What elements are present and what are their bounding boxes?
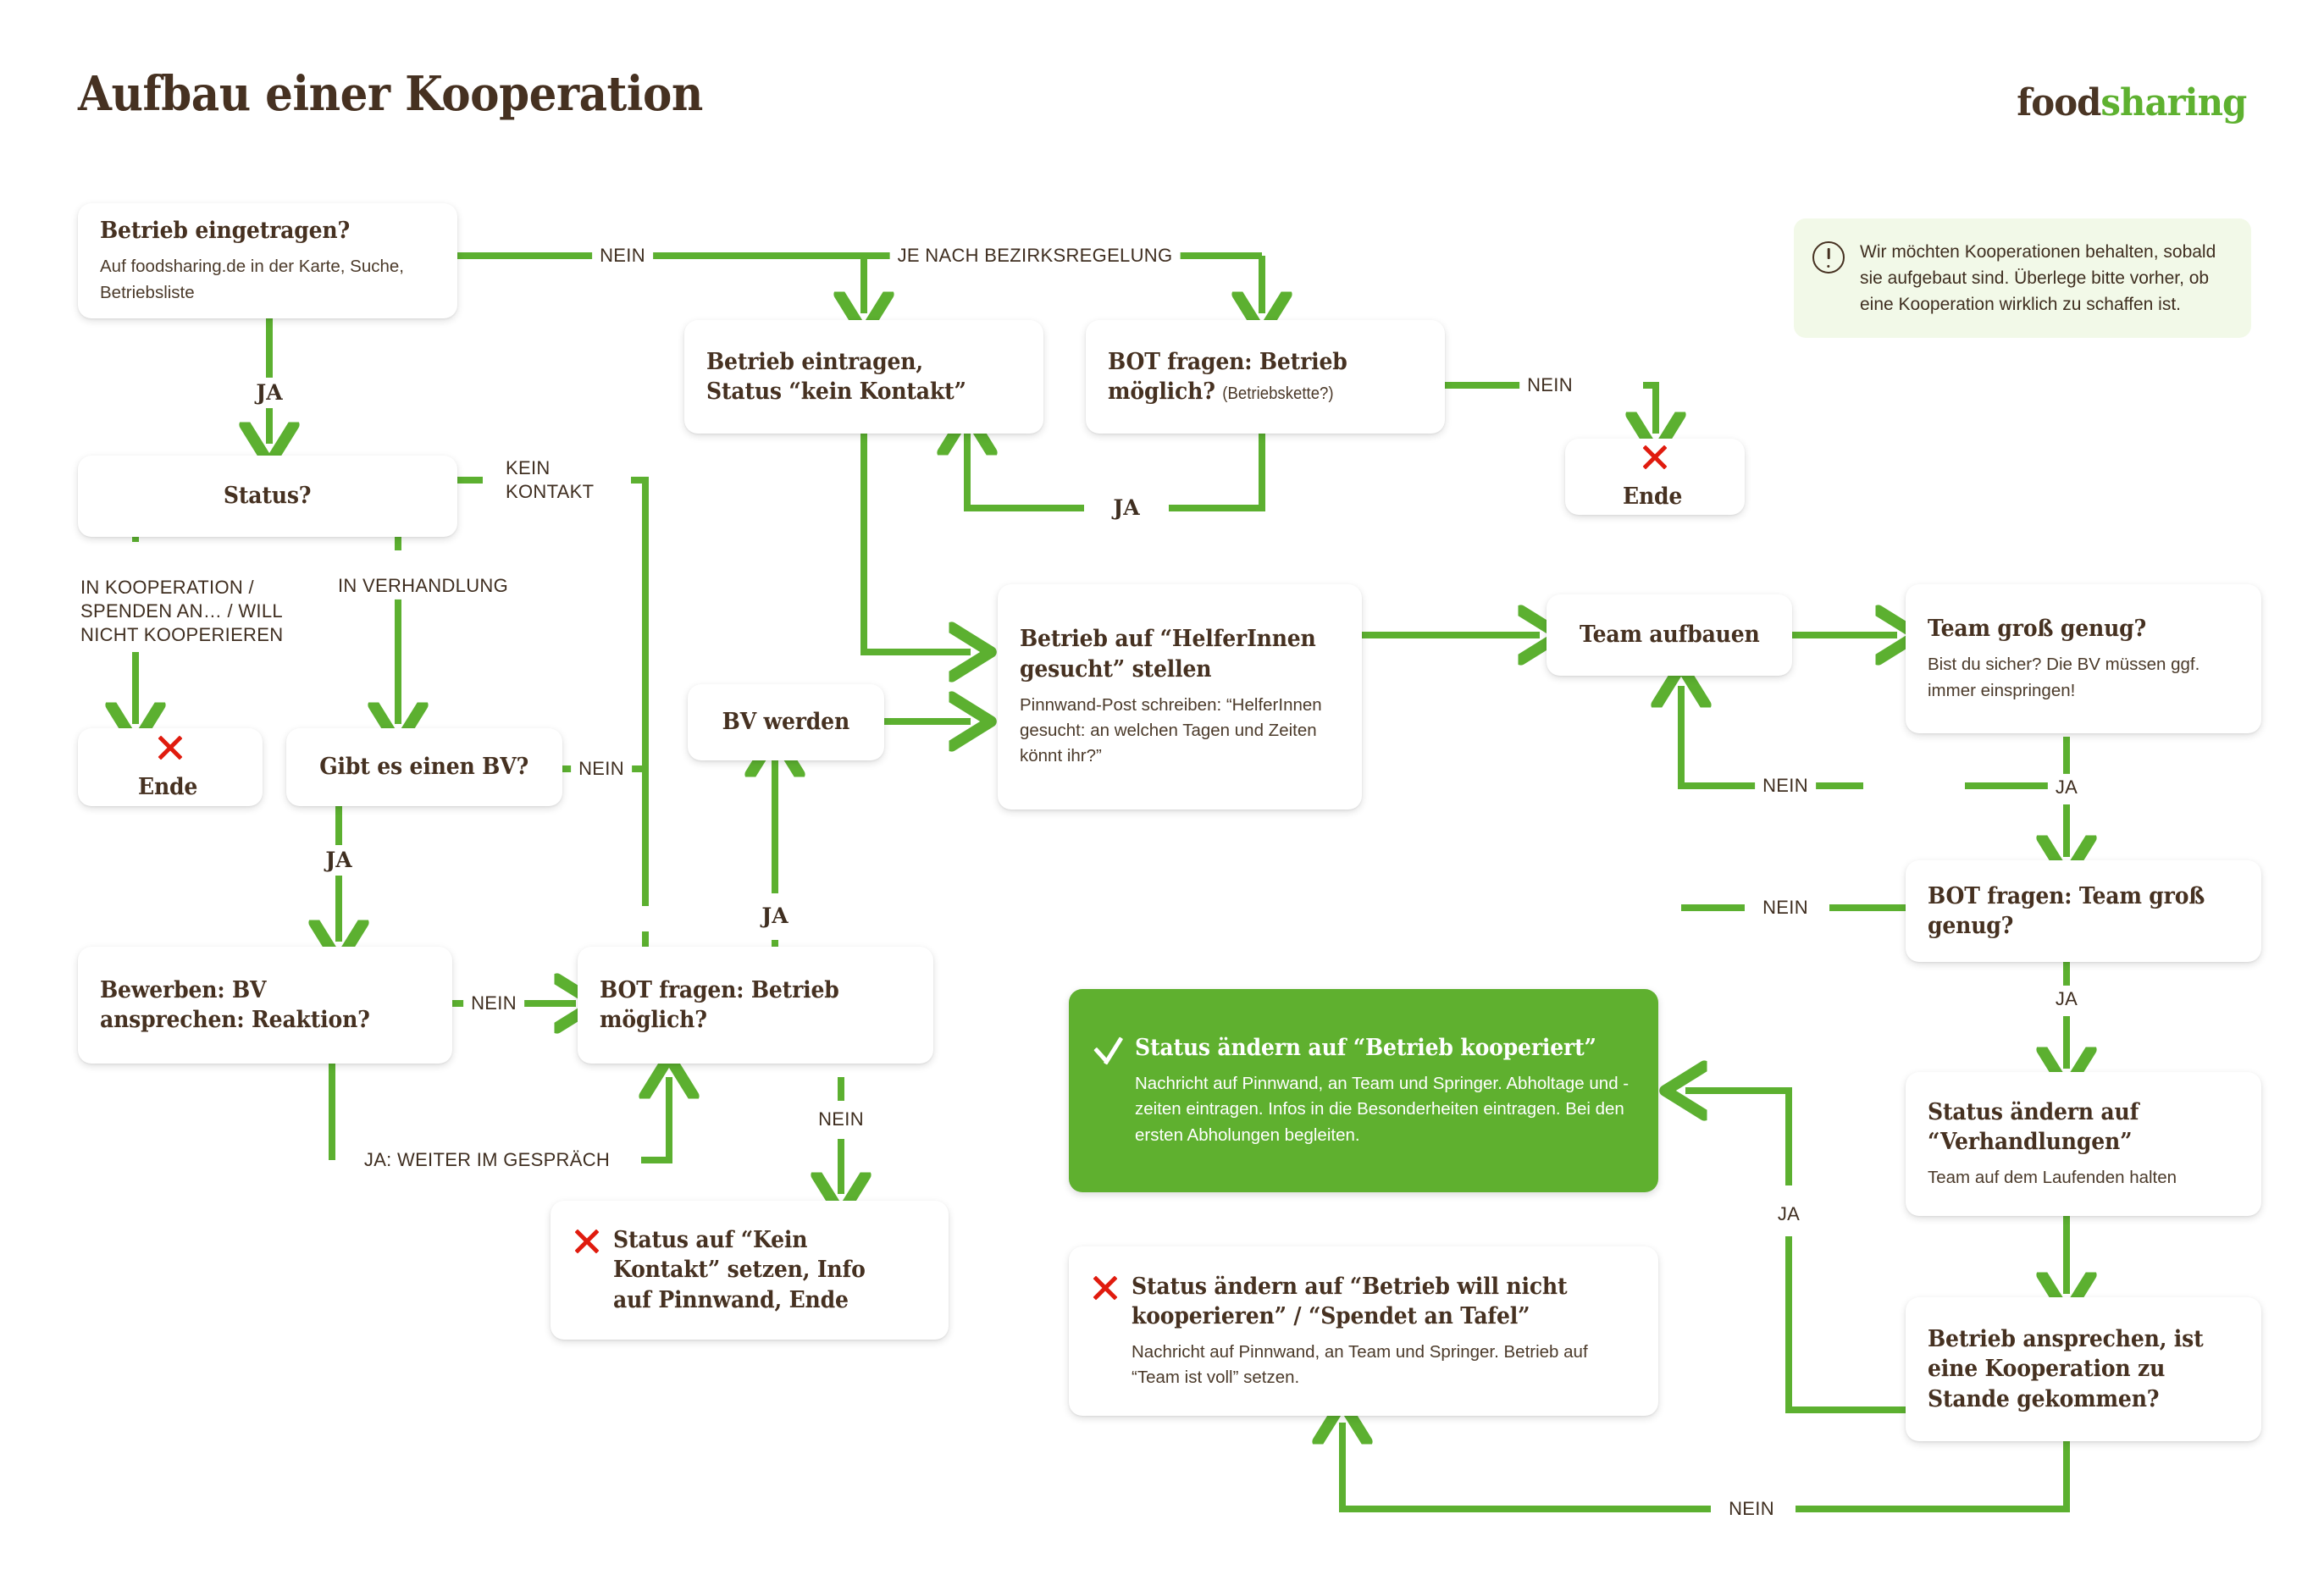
edge-label-nein-kooperation: NEIN [1721, 1495, 1782, 1522]
edge-label-in-kooperation: IN KOOPERATION / SPENDEN AN… / WILL NICH… [73, 574, 290, 649]
edge-label-ja-bv-werden: JA [754, 901, 795, 931]
info-circle-icon [1812, 241, 1845, 274]
node-title: Team groß genug? [1928, 614, 2217, 644]
node-status-verhandlungen[interactable]: Status ändern auf “Verhandlungen” Team a… [1906, 1072, 2261, 1216]
edge-label-nein-bewerben: NEIN [463, 990, 524, 1017]
node-title: BOT fragen: Betrieb möglich? (Betriebske… [1108, 347, 1401, 406]
page-title: Aufbau einer Kooperation [78, 66, 703, 122]
node-title-note: (Betriebskette?) [1222, 384, 1333, 403]
edge-label-ja-kooperation: JA [1770, 1201, 1807, 1228]
node-bot-fragen-betrieb-oben[interactable]: BOT fragen: Betrieb möglich? (Betriebske… [1086, 320, 1445, 434]
edge-label-ja-gibt-bv: JA [318, 845, 359, 876]
node-title: Betrieb eintragen, Status “kein Kontakt” [706, 347, 999, 406]
edge-label-ja-eingetragen: JA [248, 378, 290, 408]
node-description: Team auf dem Laufenden halten [1928, 1165, 2239, 1191]
node-title: Ende [1623, 482, 1682, 511]
check-mark-icon [1091, 1035, 1123, 1067]
foodsharing-logo: foodsharing [2017, 81, 2246, 124]
info-callout-text: Wir möchten Kooperationen behalten, soba… [1860, 239, 2229, 318]
logo-food-text: food [2017, 81, 2100, 124]
edge-label-ja-team-gross: JA [2048, 774, 2085, 801]
edge-label-nein-bot-unten: NEIN [811, 1106, 871, 1133]
x-mark-icon [1641, 443, 1669, 472]
node-description: Nachricht auf Pinnwand, an Team und Spri… [1132, 1340, 1636, 1391]
node-description: Pinnwand-Post schreiben: “HelferInnen ge… [1020, 693, 1340, 770]
node-title: Betrieb eingetragen? [100, 216, 412, 246]
node-bot-fragen-betrieb-unten[interactable]: BOT fragen: Betrieb möglich? [578, 947, 933, 1064]
node-status-frage[interactable]: Status? [78, 456, 457, 537]
node-team-aufbauen[interactable]: Team aufbauen [1547, 594, 1792, 676]
x-mark-icon [1091, 1274, 1120, 1302]
node-bewerben-bv[interactable]: Bewerben: BV ansprechen: Reaktion? [78, 947, 452, 1064]
node-title: Gibt es einen BV? [320, 752, 529, 782]
node-ende-oben[interactable]: Ende [1565, 439, 1745, 515]
node-helferinnen-gesucht[interactable]: Betrieb auf “HelferInnen gesucht” stelle… [998, 584, 1362, 810]
node-betrieb-eingetragen[interactable]: Betrieb eingetragen? Auf foodsharing.de … [78, 203, 457, 318]
edge-label-in-verhandlung: IN VERHANDLUNG [330, 572, 516, 600]
node-description: Auf foodsharing.de in der Karte, Suche, … [100, 254, 435, 306]
edge-label-nein-bot-oben: NEIN [1519, 372, 1580, 399]
node-status-will-nicht[interactable]: Status ändern auf “Betrieb will nicht ko… [1069, 1246, 1658, 1416]
node-title: Betrieb ansprechen, ist eine Kooperation… [1928, 1324, 2217, 1413]
node-status-kein-kontakt[interactable]: Status auf “Kein Kontakt” setzen, Info a… [551, 1201, 949, 1340]
x-mark-icon [156, 733, 185, 762]
edge-label-ja-weiter-im-gespraech: JA: WEITER IM GESPRÄCH [357, 1147, 617, 1174]
node-title: Status ändern auf “Betrieb kooperiert” [1135, 1033, 1602, 1063]
node-team-gross-genug[interactable]: Team groß genug? Bist du sicher? Die BV … [1906, 584, 2261, 733]
node-title: Ende [138, 772, 197, 802]
x-mark-icon [573, 1227, 601, 1256]
edge-label-nein-top: NEIN [592, 242, 653, 269]
edge-label-nein-gibt-bv: NEIN [571, 755, 632, 782]
node-title: Betrieb auf “HelferInnen gesucht” stelle… [1020, 624, 1318, 683]
node-title: Team aufbauen [1580, 620, 1760, 649]
node-title: Status ändern auf “Verhandlungen” [1928, 1097, 2217, 1157]
edge-label-ja-bot-oben: JA [1105, 493, 1147, 523]
node-title: Bewerben: BV ansprechen: Reaktion? [100, 975, 407, 1035]
edge-label-kein-kontakt: KEIN KONTAKT [498, 455, 601, 506]
node-status-kooperiert[interactable]: Status ändern auf “Betrieb kooperiert” N… [1069, 989, 1658, 1192]
node-title: Status ändern auf “Betrieb will nicht ko… [1132, 1272, 1601, 1331]
node-title: BOT fragen: Team groß genug? [1928, 881, 2217, 941]
logo-sharing-text: sharing [2100, 81, 2246, 124]
node-title: Status? [224, 481, 311, 511]
node-betrieb-ansprechen[interactable]: Betrieb ansprechen, ist eine Kooperation… [1906, 1297, 2261, 1441]
edge-label-nein-bot-team: NEIN [1755, 894, 1816, 921]
node-title: BOT fragen: Betrieb möglich? [600, 975, 889, 1035]
info-callout: Wir möchten Kooperationen behalten, soba… [1794, 218, 2251, 338]
edge-label-nein-team-gross: NEIN [1755, 772, 1816, 799]
node-ende-links[interactable]: Ende [78, 728, 263, 806]
node-description: Nachricht auf Pinnwand, an Team und Spri… [1135, 1071, 1636, 1148]
node-gibt-es-bv[interactable]: Gibt es einen BV? [286, 728, 562, 806]
node-title: Status auf “Kein Kontakt” setzen, Info a… [613, 1225, 905, 1314]
node-bv-werden[interactable]: BV werden [688, 684, 884, 760]
edge-label-je-nach-bezirksregelung: JE NACH BEZIRKSREGELUNG [890, 242, 1181, 269]
flowchart-canvas: Aufbau einer Kooperation foodsharing [0, 0, 2324, 1575]
node-betrieb-eintragen[interactable]: Betrieb eintragen, Status “kein Kontakt” [684, 320, 1043, 434]
edge-label-ja-bot-team: JA [2048, 986, 2085, 1013]
node-title: BV werden [722, 707, 849, 737]
node-bot-fragen-team-gross[interactable]: BOT fragen: Team groß genug? [1906, 860, 2261, 962]
node-description: Bist du sicher? Die BV müssen ggf. immer… [1928, 652, 2239, 704]
